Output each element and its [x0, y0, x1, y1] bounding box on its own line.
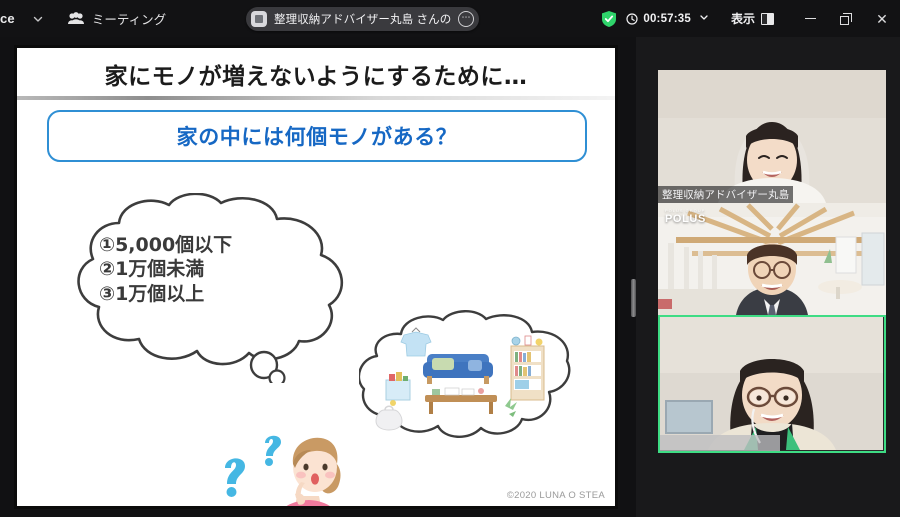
thinking-woman-illustration: [209, 420, 359, 509]
layout-grid-icon: [761, 13, 774, 25]
participant-tile-active[interactable]: [658, 315, 886, 453]
org-name-label: ce: [0, 11, 15, 26]
participants-panel: 整理収納アドバイザー丸島: [636, 37, 900, 517]
titlebar-left-group: ce ミーティング: [0, 6, 166, 32]
list-item: ②1万個未満: [99, 257, 329, 281]
window-controls: ✕: [792, 0, 900, 37]
share-chip-label: 整理収納アドバイザー丸島 さんの: [274, 11, 451, 27]
screen-share-chip[interactable]: 整理収納アドバイザー丸島 さんの ⋯: [246, 7, 479, 31]
participant-name-label: 整理収納アドバイザー丸島: [658, 186, 793, 203]
page-title: 家にモノが増えないようにするために…: [17, 57, 615, 91]
question-callout-text: 家の中には何個モノがある？: [177, 121, 458, 151]
minimize-icon: [805, 18, 816, 20]
meeting-timer[interactable]: 00:57:35: [626, 12, 709, 25]
question-mark-icon: [225, 436, 281, 497]
chevron-down-icon[interactable]: [699, 12, 709, 25]
title-divider: [15, 96, 618, 100]
polus-watermark: POLUS GROUP POLUS: [665, 208, 706, 225]
view-label: 表示: [731, 10, 755, 27]
view-layout-button[interactable]: 表示: [731, 10, 774, 27]
list-item: ①5,000個以下: [99, 233, 329, 257]
copyright-label: ©2020 LUNA O STEA: [507, 490, 605, 501]
thought-bubble-icon: ①5,000個以下 ②1万個未満 ③1万個以上: [59, 193, 359, 383]
app-window-icon: [251, 11, 267, 27]
timer-value: 00:57:35: [643, 13, 691, 25]
restore-window-icon: [840, 13, 852, 25]
polus-watermark-label: POLUS: [665, 213, 706, 225]
meeting-tab-label: ミーティング: [92, 9, 166, 28]
people-group-icon: [67, 11, 85, 27]
name-blur-bar: [660, 435, 780, 451]
presentation-slide[interactable]: 家にモノが増えないようにするために… 家の中には何個モノがある？ ①5,000個…: [14, 45, 618, 509]
restore-button[interactable]: [828, 0, 864, 37]
ellipsis-icon[interactable]: ⋯: [458, 11, 474, 27]
list-item: ③1万個以上: [99, 282, 329, 306]
clock-icon: [626, 13, 638, 25]
participant-tile[interactable]: 整理収納アドバイザー丸島: [658, 70, 886, 203]
minimize-button[interactable]: [792, 0, 828, 37]
shield-check-icon[interactable]: [601, 10, 617, 28]
bookshelf: [511, 336, 544, 400]
close-icon: ✕: [876, 12, 888, 26]
question-callout-box: 家の中には何個モノがある？: [47, 110, 587, 162]
participant-tile[interactable]: POLUS GROUP POLUS: [658, 203, 886, 315]
options-list: ①5,000個以下 ②1万個未満 ③1万個以上: [99, 233, 329, 306]
chevron-down-icon[interactable]: [25, 6, 51, 32]
meeting-tab[interactable]: ミーティング: [67, 9, 166, 28]
thought-bubble-room-icon: [359, 310, 574, 445]
titlebar: ce ミーティング 整理収: [0, 0, 900, 37]
meeting-window: ce ミーティング 整理収: [0, 0, 900, 517]
shared-content-stage: 家にモノが増えないようにするために… 家の中には何個モノがある？ ①5,000個…: [0, 37, 632, 517]
titlebar-right-group: 00:57:35 表示 ✕: [601, 0, 900, 37]
close-button[interactable]: ✕: [864, 0, 900, 37]
polus-watermark-sub: POLUS GROUP: [665, 208, 706, 213]
